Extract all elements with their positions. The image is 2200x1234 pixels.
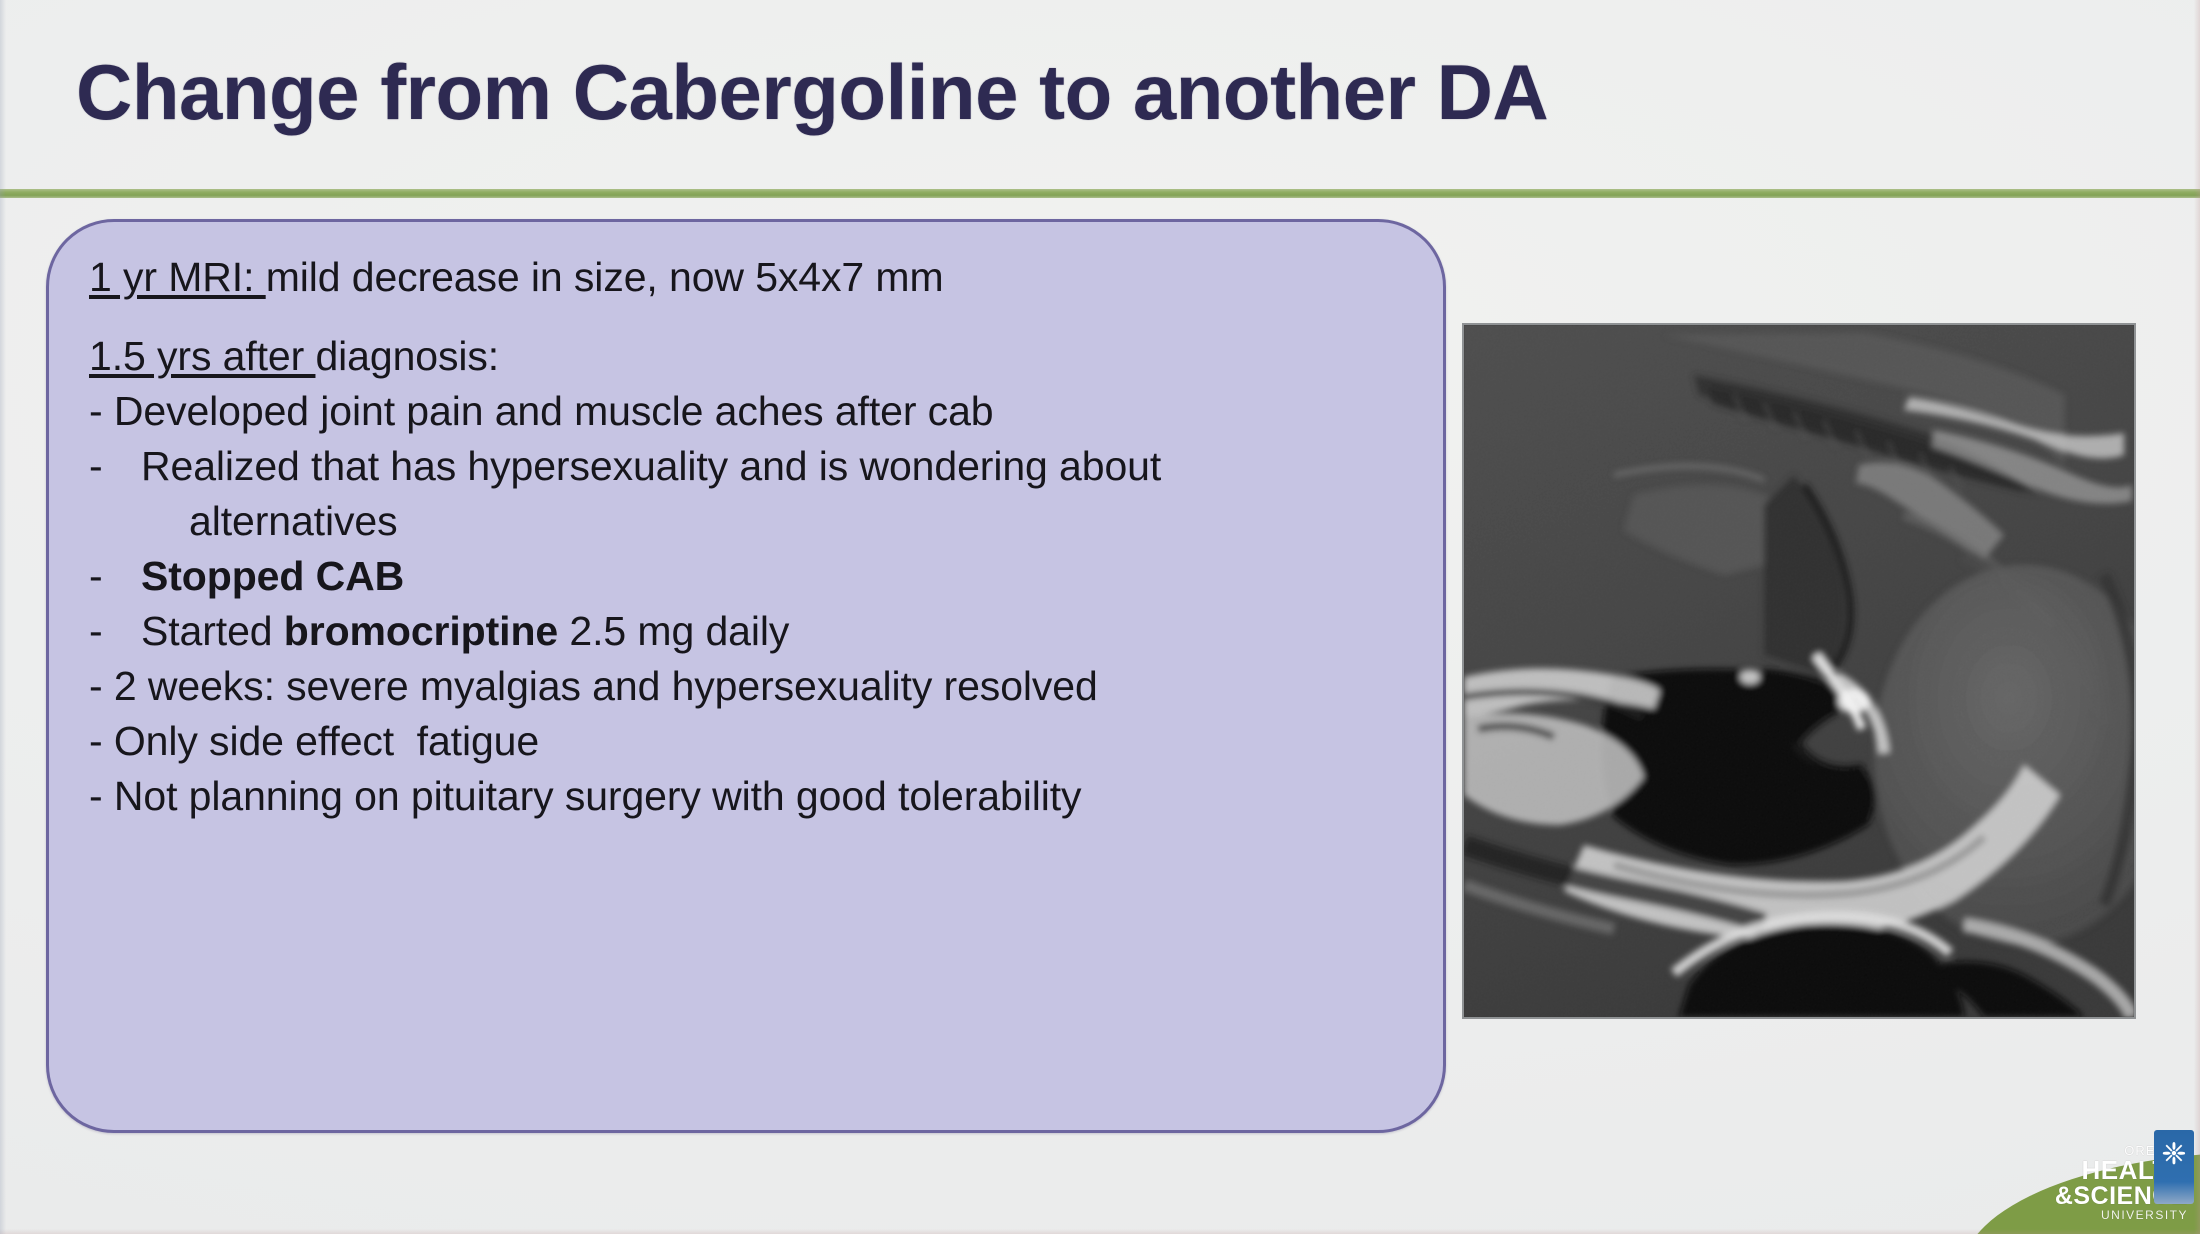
title-divider-rule: [0, 189, 2200, 198]
list-item: -Realized that has hypersexuality and is…: [89, 439, 1417, 494]
list-item-text-post: 2.5 mg daily: [558, 608, 789, 654]
list-item: - 2 weeks: severe myalgias and hypersexu…: [89, 659, 1417, 714]
mri-summary-label: 1 yr MRI:: [89, 254, 266, 300]
bullet-dash-icon: -: [89, 769, 103, 824]
section-heading-line: 1.5 yrs after diagnosis:: [89, 329, 1417, 384]
logo-line-university: UNIVERSITY: [1988, 1209, 2188, 1221]
section-heading-text: diagnosis:: [315, 333, 499, 379]
content-callout-box: 1 yr MRI: mild decrease in size, now 5x4…: [46, 219, 1446, 1133]
sagittal-pituitary-mri-image: [1464, 325, 2134, 1017]
bullet-dash-icon: -: [89, 604, 141, 659]
list-item-continuation: alternatives: [89, 494, 1417, 549]
mri-summary-text: mild decrease in size, now 5x4x7 mm: [266, 254, 944, 300]
bullet-dash-icon: -: [89, 384, 103, 439]
list-item-text: Developed joint pain and muscle aches af…: [114, 388, 994, 434]
spacer: [89, 305, 1417, 329]
list-item-continuation-text: alternatives: [89, 494, 397, 549]
list-item-text: Not planning on pituitary surgery with g…: [114, 773, 1082, 819]
list-item-text-bold: Stopped CAB: [141, 553, 404, 599]
list-item-text: Only side effect fatigue: [114, 718, 539, 764]
mri-summary-line: 1 yr MRI: mild decrease in size, now 5x4…: [89, 250, 1417, 305]
presentation-slide: Change from Cabergoline to another DA 1 …: [0, 0, 2200, 1234]
bullet-dash-icon: -: [89, 549, 141, 604]
ohsu-logo: OREGON HEALTH &SCIENCE UNIVERSITY ❈: [1928, 1130, 2200, 1234]
section-heading-label: 1.5 yrs after: [89, 333, 315, 379]
list-item-text: Realized that has hypersexuality and is …: [141, 443, 1161, 489]
logo-flame-icon: ❈: [2160, 1138, 2188, 1172]
mri-image-frame: [1462, 323, 2136, 1019]
list-item-text-pre: Started: [141, 608, 284, 654]
list-item: - Developed joint pain and muscle aches …: [89, 384, 1417, 439]
list-item: -Stopped CAB: [89, 549, 1417, 604]
bullet-dash-icon: -: [89, 714, 103, 769]
slide-body-text: 1 yr MRI: mild decrease in size, now 5x4…: [89, 250, 1417, 824]
list-item-text-bold: bromocriptine: [284, 608, 558, 654]
bullet-dash-icon: -: [89, 439, 141, 494]
bullet-dash-icon: -: [89, 659, 103, 714]
list-item: -Started bromocriptine 2.5 mg daily: [89, 604, 1417, 659]
page-title: Change from Cabergoline to another DA: [76, 52, 1976, 134]
logo-shield-badge: ❈: [2154, 1130, 2194, 1204]
list-item: - Not planning on pituitary surgery with…: [89, 769, 1417, 824]
list-item-text: 2 weeks: severe myalgias and hypersexual…: [114, 663, 1098, 709]
list-item: - Only side effect fatigue: [89, 714, 1417, 769]
